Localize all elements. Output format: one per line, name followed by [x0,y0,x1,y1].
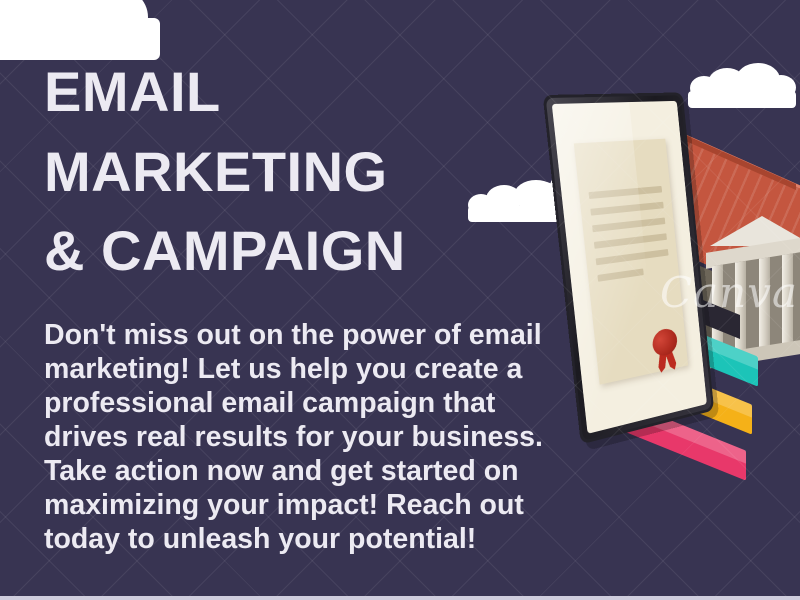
body-paragraph: Don't miss out on the power of email mar… [44,318,564,556]
headline-line-2: MARKETING [44,132,514,212]
tablet-device-icon [562,96,752,466]
poster-canvas: EMAIL MARKETING & CAMPAIGN Don't miss ou… [0,0,800,600]
cloud-icon-top-left [0,0,160,60]
body-line: today to unleash your potential! [44,522,564,556]
building-column [782,253,793,347]
body-line: maximizing your impact! Reach out [44,488,564,522]
page-title: EMAIL MARKETING & CAMPAIGN [44,52,514,291]
tablet-body [543,92,715,444]
headline-line-3: & CAMPAIGN [44,211,514,291]
building-column [759,257,770,351]
body-line: marketing! Let us help you create a [44,352,564,386]
body-line: Don't miss out on the power of email [44,318,564,352]
bottom-edge-strip [0,596,800,600]
body-line: drives real results for your business. [44,420,564,454]
wax-seal-icon [651,327,680,363]
body-line: Take action now and get started on [44,454,564,488]
body-line: professional email campaign that [44,386,564,420]
headline-line-1: EMAIL [44,52,514,132]
